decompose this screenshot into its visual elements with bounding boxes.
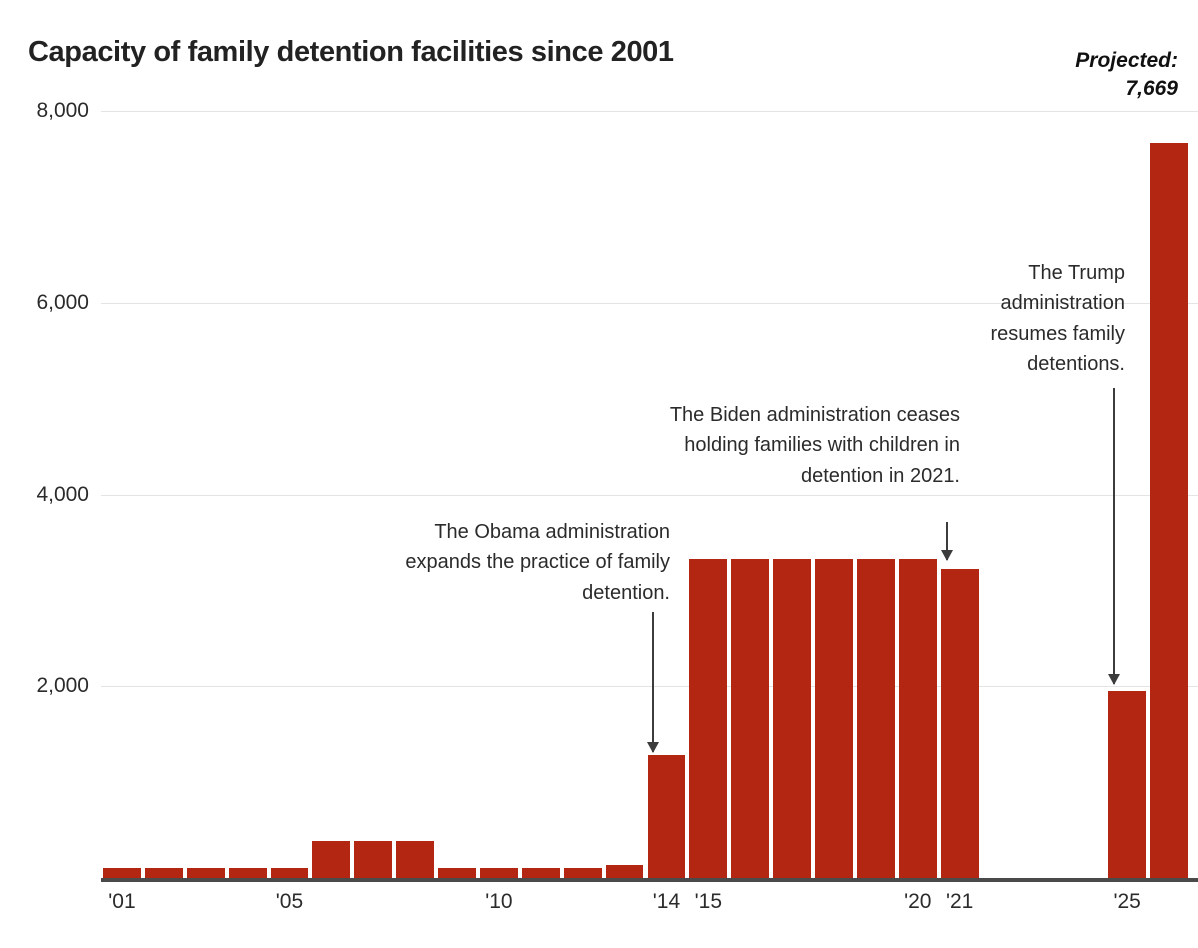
bar-2002[interactable] — [145, 868, 183, 878]
projected-callout: Projected: 7,669 — [1075, 47, 1178, 102]
x-axis-line — [101, 878, 1198, 882]
x-axis-label-2010: '10 — [485, 890, 512, 914]
bar-2014[interactable] — [648, 755, 686, 878]
projected-label-value: 7,669 — [1075, 75, 1178, 103]
y-axis-label-6000: 6,000 — [36, 291, 89, 315]
bar-2008[interactable] — [396, 841, 434, 878]
y-axis-label-2000: 2,000 — [36, 674, 89, 698]
bar-2017[interactable] — [773, 559, 811, 878]
annotation-biden: The Biden administration ceases holding … — [660, 400, 960, 491]
bar-2013[interactable] — [606, 865, 644, 878]
gridline-2000 — [101, 686, 1198, 687]
x-axis-label-2021: '21 — [946, 890, 973, 914]
x-axis-label-2020: '20 — [904, 890, 931, 914]
bar-2004[interactable] — [229, 868, 267, 878]
annotation-arrow-obama — [652, 612, 654, 752]
plot-area: 2,0004,0006,0008,000'01'05'10'14'15'20'2… — [0, 0, 1198, 948]
bar-2021[interactable] — [941, 569, 979, 878]
bar-2018[interactable] — [815, 559, 853, 878]
bar-2019[interactable] — [857, 559, 895, 878]
bar-2015[interactable] — [689, 559, 727, 878]
bar-2025[interactable] — [1108, 691, 1146, 878]
chart-root: Capacity of family detention facilities … — [0, 0, 1198, 948]
bar-2001[interactable] — [103, 868, 141, 878]
gridline-4000 — [101, 495, 1198, 496]
y-axis-label-4000: 4,000 — [36, 483, 89, 507]
bar-2012[interactable] — [564, 868, 602, 878]
bar-2006[interactable] — [312, 841, 350, 878]
bar-2007[interactable] — [354, 841, 392, 878]
bar-2010[interactable] — [480, 868, 518, 878]
annotation-trump: The Trump administration resumes family … — [965, 258, 1125, 380]
bar-2026[interactable] — [1150, 143, 1188, 878]
x-axis-label-2001: '01 — [108, 890, 135, 914]
bar-2005[interactable] — [271, 868, 309, 878]
bar-2020[interactable] — [899, 559, 937, 878]
annotation-arrow-biden — [946, 522, 948, 560]
y-axis-label-8000: 8,000 — [36, 99, 89, 123]
gridline-8000 — [101, 111, 1198, 112]
bar-2009[interactable] — [438, 868, 476, 878]
bar-2016[interactable] — [731, 559, 769, 878]
x-axis-label-2025: '25 — [1113, 890, 1140, 914]
annotation-obama: The Obama administration expands the pra… — [370, 517, 670, 608]
x-axis-label-2014: '14 — [653, 890, 680, 914]
bar-2011[interactable] — [522, 868, 560, 878]
annotation-arrow-trump — [1113, 388, 1115, 684]
x-axis-label-2015: '15 — [695, 890, 722, 914]
x-axis-label-2005: '05 — [276, 890, 303, 914]
projected-label-text: Projected: — [1075, 47, 1178, 75]
bar-2003[interactable] — [187, 868, 225, 878]
